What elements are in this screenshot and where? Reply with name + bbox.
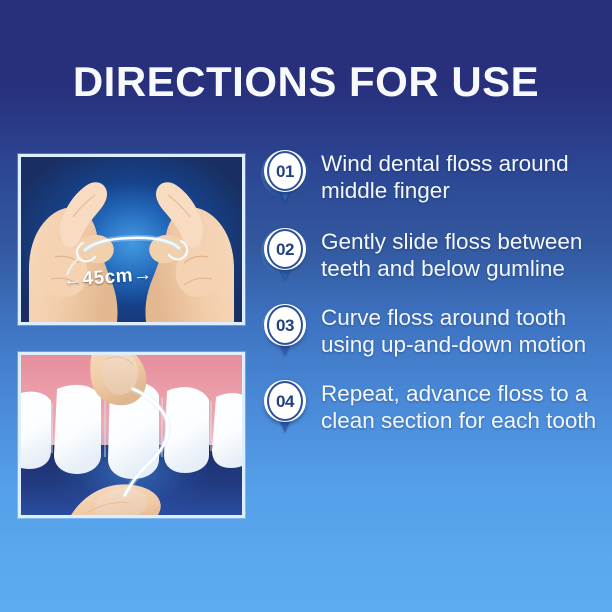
step-text: Repeat, advance floss to a clean section… xyxy=(312,378,602,434)
hands-illustration-panel xyxy=(18,154,245,325)
step-badge-02: 02 xyxy=(258,226,312,286)
step-text: Gently slide floss between teeth and bel… xyxy=(312,226,602,282)
step-badge-03: 03 xyxy=(258,302,312,362)
step-text: Wind dental floss around middle finger xyxy=(312,148,602,204)
step-item-01: 01 Wind dental floss around middle finge… xyxy=(258,148,602,208)
page-title: DIRECTIONS FOR USE xyxy=(0,57,612,107)
step-badge-04: 04 xyxy=(258,378,312,438)
step-number: 02 xyxy=(276,241,294,258)
badge-circle: 03 xyxy=(264,304,306,346)
directions-for-use-infographic: DIRECTIONS FOR USE xyxy=(0,0,612,612)
badge-circle: 01 xyxy=(264,150,306,192)
teeth-illustration-panel xyxy=(18,352,245,518)
steps-list: 01 Wind dental floss around middle finge… xyxy=(258,148,602,450)
badge-ring: 03 xyxy=(267,305,303,345)
step-number: 03 xyxy=(276,317,294,334)
step-item-03: 03 Curve floss around tooth using up-and… xyxy=(258,302,602,362)
badge-circle: 02 xyxy=(264,228,306,270)
hands-illustration xyxy=(21,157,242,322)
step-badge-01: 01 xyxy=(258,148,312,208)
step-text: Curve floss around tooth using up-and-do… xyxy=(312,302,602,358)
teeth-illustration xyxy=(21,355,242,515)
teeth-floss-svg xyxy=(21,355,242,515)
badge-ring: 04 xyxy=(267,381,303,421)
step-number: 01 xyxy=(276,163,294,180)
badge-ring: 02 xyxy=(267,229,303,269)
hands-floss-svg xyxy=(21,157,242,322)
lower-finger xyxy=(65,483,161,515)
right-hand xyxy=(145,182,234,322)
step-number: 04 xyxy=(276,393,294,410)
badge-ring: 01 xyxy=(267,151,303,191)
badge-circle: 04 xyxy=(264,380,306,422)
left-hand xyxy=(29,182,118,322)
step-item-04: 04 Repeat, advance floss to a clean sect… xyxy=(258,378,602,438)
step-item-02: 02 Gently slide floss between teeth and … xyxy=(258,226,602,286)
